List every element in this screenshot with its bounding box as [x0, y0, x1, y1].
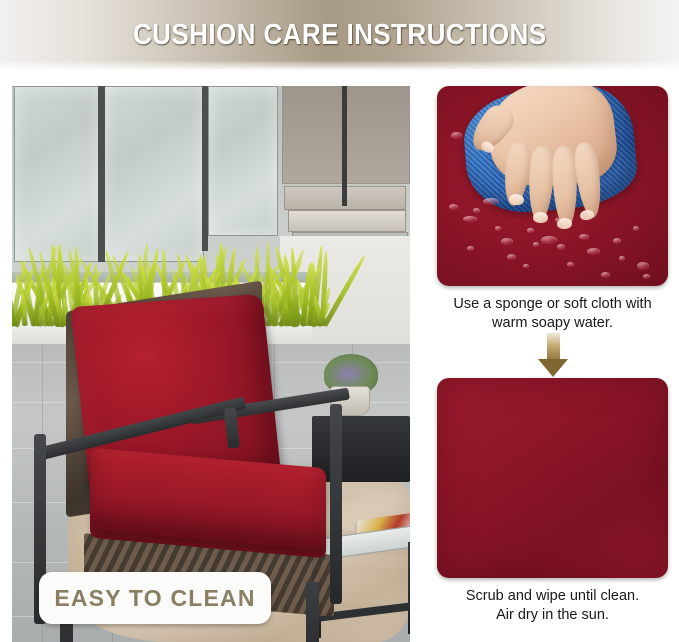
arrow-shaft [547, 333, 560, 361]
caption-line-1: Scrub and wipe until clean. [439, 587, 666, 606]
steps-column: Use a sponge or soft cloth with warm soa… [437, 86, 668, 642]
flow-arrow-wrap [437, 332, 668, 378]
header-banner: CUSHION CARE INSTRUCTIONS [0, 0, 679, 70]
stair-step [288, 210, 406, 232]
arrow-head [538, 359, 568, 377]
easy-to-clean-label: EASY TO CLEAN [54, 585, 255, 612]
step-wipe-image [437, 86, 668, 286]
stair-railing [342, 86, 347, 206]
infographic-page: CUSHION CARE INSTRUCTIONS [0, 0, 679, 642]
caption-line-1: Use a sponge or soft cloth with [439, 295, 666, 314]
clean-fabric-surface [437, 378, 668, 578]
chair-leg [306, 582, 319, 642]
easy-to-clean-badge: EASY TO CLEAN [39, 572, 271, 624]
caption-line-2: warm soapy water. [439, 314, 666, 333]
chair-arm-post [330, 404, 342, 604]
page-title: CUSHION CARE INSTRUCTIONS [133, 19, 547, 52]
step-dry-image [437, 378, 668, 578]
window-pane [208, 86, 278, 236]
table-leg [408, 542, 410, 634]
caption-line-2: Air dry in the sun. [439, 606, 666, 625]
step-dry-caption: Scrub and wipe until clean. Air dry in t… [437, 578, 668, 624]
arrow-down-icon [538, 333, 568, 377]
window-mullion [202, 86, 208, 251]
hero-photo: EASY TO CLEAN [12, 86, 410, 642]
step-wipe-caption: Use a sponge or soft cloth with warm soa… [437, 286, 668, 332]
